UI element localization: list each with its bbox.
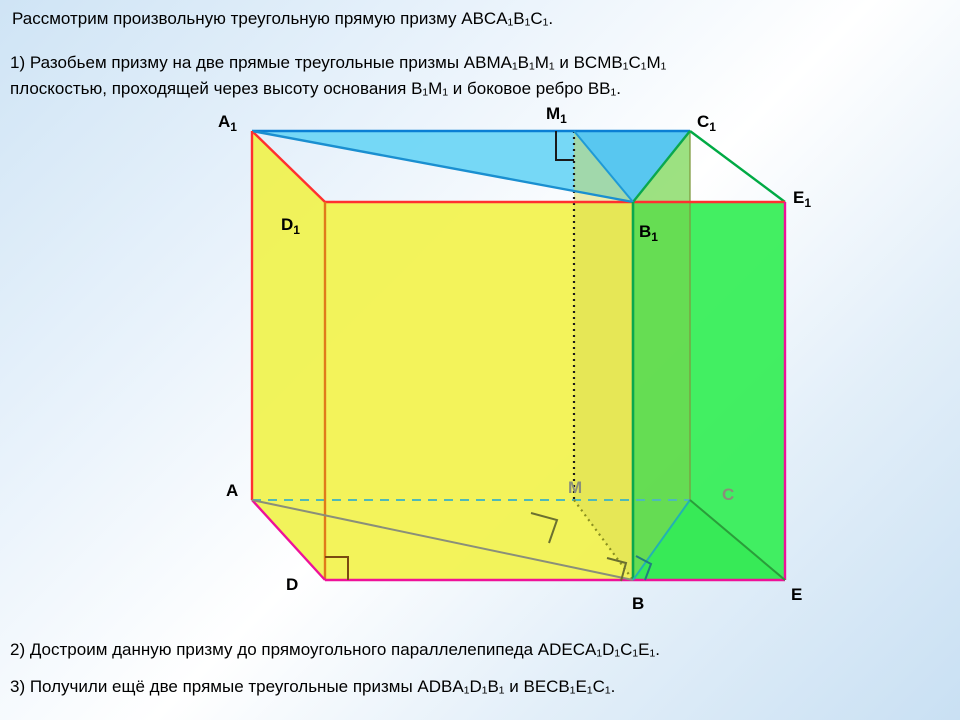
text-line-4: 2) Достроим данную призму до прямоугольн… [10,639,660,661]
vertex-label-C: C [722,485,734,505]
vertex-label-subscript: 1 [560,112,567,126]
vertex-label-M1: M1 [546,104,567,124]
vertex-label-base: C [697,112,709,131]
vertex-label-E: E [791,585,802,605]
vertex-label-base: B [632,594,644,613]
vertex-label-subscript: 1 [651,230,658,244]
prism-figure [0,0,960,720]
vertex-label-D: D [286,575,298,595]
vertex-label-E1: E1 [793,188,811,208]
vertex-label-base: A [226,481,238,500]
diagram-stage: Рассмотрим произвольную треугольную прям… [0,0,960,720]
vertex-label-D1: D1 [281,215,300,235]
vertex-label-subscript: 1 [293,223,300,237]
vertex-label-subscript: 1 [230,120,237,134]
vertex-label-M: M [568,478,582,498]
text-line-2: 1) Разобьем призму на две прямые треугол… [10,52,666,74]
text-line-1: Рассмотрим произвольную треугольную прям… [12,8,553,30]
vertex-label-base: B [639,222,651,241]
vertex-label-subscript: 1 [804,196,811,210]
vertex-label-base: D [286,575,298,594]
vertex-label-base: M [568,478,582,497]
vertex-label-B1: B1 [639,222,658,242]
vertex-label-C1: C1 [697,112,716,132]
vertex-label-base: M [546,104,560,123]
vertex-label-subscript: 1 [709,120,716,134]
text-line-3: плоскостью, проходящей через высоту осно… [10,78,621,100]
vertex-label-base: D [281,215,293,234]
edge-C1-E1 [690,131,785,202]
vertex-label-B: B [632,594,644,614]
vertex-label-base: A [218,112,230,131]
vertex-label-base: E [793,188,804,207]
vertex-label-A1: A1 [218,112,237,132]
vertex-label-base: E [791,585,802,604]
text-line-5: 3) Получили ещё две прямые треугольные п… [10,676,615,698]
vertex-label-base: C [722,485,734,504]
vertex-label-A: A [226,481,238,501]
